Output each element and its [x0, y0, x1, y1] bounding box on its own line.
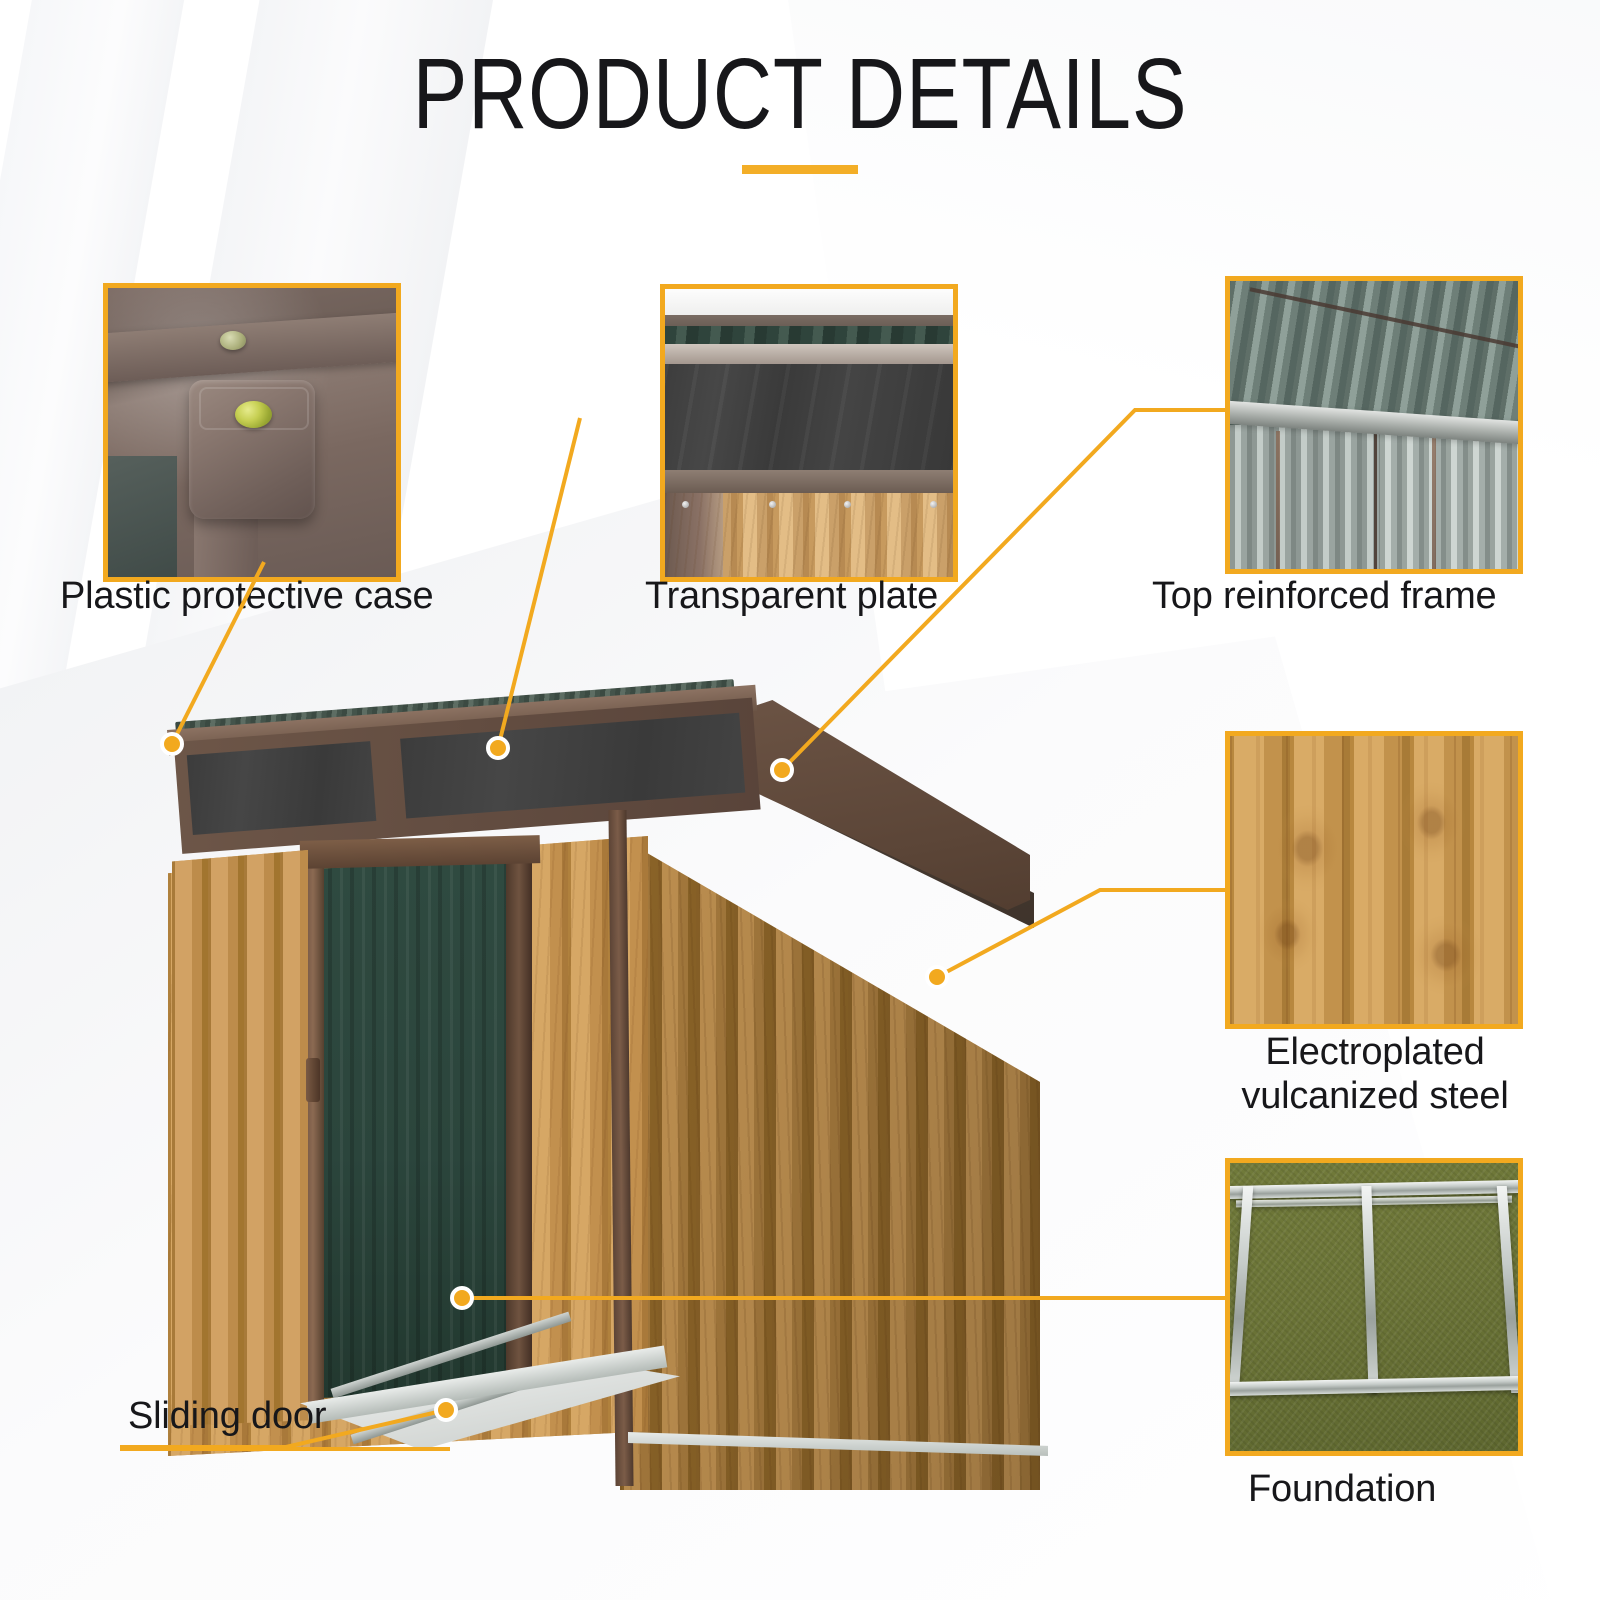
- product-photo-shed: [150, 660, 1030, 1490]
- transparent-plate-panel: [187, 741, 377, 835]
- thumbnail-foundation[interactable]: [1225, 1158, 1523, 1456]
- caption-transparent-plate: Transparent plate: [645, 575, 938, 618]
- frame-corner-joint: [1374, 425, 1377, 569]
- door-opening-interior: [318, 858, 518, 1398]
- page-title: PRODUCT DETAILS: [144, 42, 1456, 147]
- shed-side-wall-shading: [620, 810, 1040, 1490]
- photo-transparent-plate: [665, 289, 953, 577]
- frame-stud: [1276, 431, 1280, 569]
- screw-icon: [769, 501, 776, 508]
- thumbnail-electroplated-vulcanized-steel[interactable]: [1225, 731, 1523, 1029]
- roof-right-slope: [750, 700, 1030, 950]
- plate-roof-strip: [665, 326, 953, 343]
- wood-knot: [1397, 782, 1466, 863]
- photo-electroplated-vulcanized-steel: [1230, 736, 1518, 1024]
- caption-top-reinforced-frame: Top reinforced frame: [1152, 575, 1497, 618]
- sliding-door-panel: [172, 850, 308, 1426]
- photo-plastic-protective-case: [108, 288, 396, 577]
- frame-wall-right: [1380, 431, 1518, 569]
- plate-wood-siding: [665, 493, 953, 577]
- caption-sliding-door-underline: [120, 1447, 450, 1451]
- caption-electroplated-vulcanized-steel: Electroplated vulcanized steel: [1185, 1030, 1565, 1118]
- frame-wall-left: [1230, 425, 1380, 569]
- title-underline: [742, 165, 858, 174]
- wood-knot: [1409, 915, 1484, 996]
- thumbnail-plastic-protective-case[interactable]: [103, 283, 401, 582]
- wood-knot: [1256, 897, 1319, 972]
- plate-top-edge: [665, 289, 953, 315]
- door-frame-header: [300, 835, 541, 869]
- frame-stud: [1432, 431, 1436, 569]
- caption-foundation: Foundation: [1248, 1468, 1436, 1511]
- photo-foundation: [1230, 1163, 1518, 1451]
- wood-knot: [1270, 805, 1345, 891]
- plate-glass-panel: [665, 364, 953, 471]
- infographic-canvas: PRODUCT DETAILS Plastic protective case: [0, 0, 1600, 1600]
- case-dark-panel: [108, 456, 177, 582]
- door-handle: [306, 1058, 320, 1102]
- caption-plastic-protective-case: Plastic protective case: [60, 575, 433, 618]
- photo-top-reinforced-frame: [1230, 281, 1518, 569]
- thumbnail-top-reinforced-frame[interactable]: [1225, 276, 1523, 574]
- transparent-plate-panel: [400, 713, 745, 819]
- wood-grain-surface: [1230, 736, 1518, 1024]
- caption-sliding-door: Sliding door: [128, 1395, 326, 1438]
- caption-line-1: Electroplated: [1265, 1031, 1484, 1073]
- screw-icon: [930, 501, 937, 508]
- screw-icon: [235, 401, 272, 428]
- thumbnail-transparent-plate[interactable]: [660, 284, 958, 582]
- caption-line-2: vulcanized steel: [1241, 1075, 1508, 1117]
- screw-icon: [844, 501, 851, 508]
- plate-lower-rail: [665, 470, 953, 493]
- screw-icon: [682, 501, 689, 508]
